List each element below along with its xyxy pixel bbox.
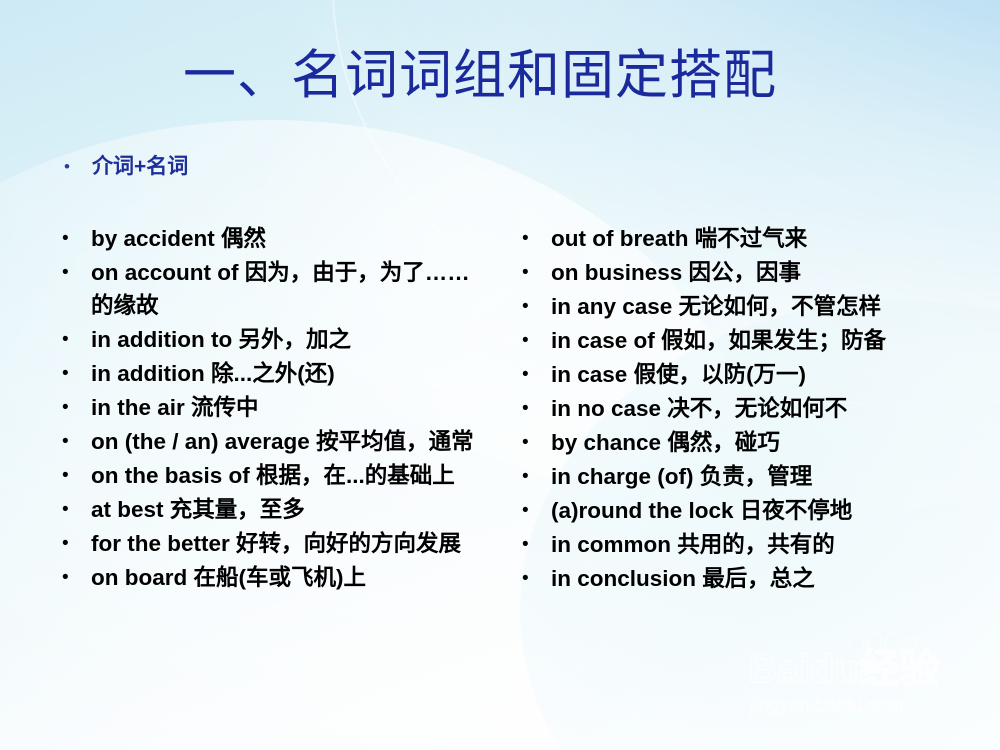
bullet-icon: • bbox=[518, 256, 551, 289]
bullet-icon: • bbox=[518, 562, 551, 595]
list-item: •(a)round the lock 日夜不停地 bbox=[518, 494, 988, 527]
phrase-english: in conclusion bbox=[551, 566, 696, 591]
list-item: •in addition 除...之外(还) bbox=[58, 357, 488, 390]
phrase-entry: for the better 好转，向好的方向发展 bbox=[91, 527, 488, 560]
phrase-english: in charge (of) bbox=[551, 464, 694, 489]
phrase-gloss: 负责，管理 bbox=[694, 464, 813, 489]
phrase-english: in common bbox=[551, 532, 671, 557]
bullet-icon: • bbox=[518, 494, 551, 527]
phrase-gloss: 假使，以防(万一) bbox=[627, 362, 806, 387]
bullet-icon: • bbox=[58, 493, 91, 526]
phrase-gloss: 除...之外(还) bbox=[205, 361, 335, 386]
phrase-gloss: 决不，无论如何不 bbox=[661, 396, 847, 421]
phrase-gloss: 偶然 bbox=[215, 226, 266, 251]
bullet-icon: • bbox=[518, 426, 551, 459]
list-item: •on the basis of 根据，在...的基础上 bbox=[58, 459, 488, 492]
bullet-icon: • bbox=[58, 391, 91, 424]
list-item: •in conclusion 最后，总之 bbox=[518, 562, 988, 595]
list-item: •on (the / an) average 按平均值，通常 bbox=[58, 425, 488, 458]
list-item: •in common 共用的，共有的 bbox=[518, 528, 988, 561]
phrase-gloss: 最后，总之 bbox=[696, 566, 815, 591]
phrase-entry: in common 共用的，共有的 bbox=[551, 528, 988, 561]
bullet-icon: • bbox=[58, 323, 91, 356]
phrase-entry: in no case 决不，无论如何不 bbox=[551, 392, 988, 425]
phrase-gloss: 流传中 bbox=[185, 395, 259, 420]
watermark-brand: Baidu经验 bbox=[748, 646, 939, 692]
phrase-entry: on board 在船(车或飞机)上 bbox=[91, 561, 488, 594]
phrase-gloss: 按平均值，通常 bbox=[310, 429, 474, 454]
phrase-english: in any case bbox=[551, 294, 672, 319]
phrase-list-right: •out of breath 喘不过气来•on business 因公，因事•i… bbox=[518, 222, 988, 596]
subtitle-row: • 介词+名词 bbox=[60, 152, 188, 182]
phrase-gloss: 根据，在...的基础上 bbox=[250, 463, 455, 488]
phrase-gloss: 因公，因事 bbox=[682, 260, 801, 285]
phrase-gloss: 日夜不停地 bbox=[734, 498, 853, 523]
phrase-english: in the air bbox=[91, 395, 185, 420]
bullet-icon: • bbox=[518, 324, 551, 357]
phrase-entry: by chance 偶然，碰巧 bbox=[551, 426, 988, 459]
list-item: •on account of 因为，由于，为了……的缘故 bbox=[58, 256, 488, 322]
phrase-entry: on the basis of 根据，在...的基础上 bbox=[91, 459, 488, 492]
list-item: •on business 因公，因事 bbox=[518, 256, 988, 289]
bullet-icon: • bbox=[58, 459, 91, 492]
bullet-icon: • bbox=[58, 561, 91, 594]
phrase-english: out of breath bbox=[551, 226, 688, 251]
bullet-icon: • bbox=[518, 528, 551, 561]
phrase-english: in no case bbox=[551, 396, 661, 421]
phrase-entry: in the air 流传中 bbox=[91, 391, 488, 424]
phrase-entry: in charge (of) 负责，管理 bbox=[551, 460, 988, 493]
bullet-icon: • bbox=[518, 290, 551, 323]
phrase-entry: in addition 除...之外(还) bbox=[91, 357, 488, 390]
phrase-gloss: 在船(车或飞机)上 bbox=[187, 565, 366, 590]
bullet-icon: • bbox=[58, 527, 91, 560]
phrase-entry: on business 因公，因事 bbox=[551, 256, 988, 289]
phrase-gloss: 偶然，碰巧 bbox=[661, 430, 780, 455]
presentation-slide: 一、名词词组和固定搭配 • 介词+名词 •by accident 偶然•on a… bbox=[0, 0, 1000, 750]
phrase-english: on account of bbox=[91, 260, 239, 285]
slide-title: 一、名词词组和固定搭配 bbox=[0, 46, 960, 106]
phrase-list-left: •by accident 偶然•on account of 因为，由于，为了……… bbox=[58, 222, 488, 595]
phrase-entry: out of breath 喘不过气来 bbox=[551, 222, 988, 255]
phrase-entry: (a)round the lock 日夜不停地 bbox=[551, 494, 988, 527]
phrase-entry: in conclusion 最后，总之 bbox=[551, 562, 988, 595]
list-item: •by accident 偶然 bbox=[58, 222, 488, 255]
bullet-icon: • bbox=[60, 152, 92, 182]
phrase-english: for the better bbox=[91, 531, 230, 556]
phrase-english: at best bbox=[91, 497, 164, 522]
bullet-icon: • bbox=[58, 256, 91, 289]
bullet-icon: • bbox=[518, 392, 551, 425]
phrase-entry: on account of 因为，由于，为了……的缘故 bbox=[91, 256, 488, 322]
phrase-gloss: 假如，如果发生；防备 bbox=[655, 328, 886, 353]
phrase-entry: in any case 无论如何，不管怎样 bbox=[551, 290, 988, 323]
list-item: •by chance 偶然，碰巧 bbox=[518, 426, 988, 459]
subtitle-label: 介词+名词 bbox=[92, 152, 188, 182]
list-item: •out of breath 喘不过气来 bbox=[518, 222, 988, 255]
phrase-english: in addition bbox=[91, 361, 205, 386]
phrase-entry: in addition to 另外，加之 bbox=[91, 323, 488, 356]
list-item: •for the better 好转，向好的方向发展 bbox=[58, 527, 488, 560]
phrase-english: on (the / an) average bbox=[91, 429, 310, 454]
list-item: •in charge (of) 负责，管理 bbox=[518, 460, 988, 493]
list-item: •in case 假使，以防(万一) bbox=[518, 358, 988, 391]
list-item: •on board 在船(车或飞机)上 bbox=[58, 561, 488, 594]
watermark-url: jingyan.baidu.com bbox=[750, 696, 903, 718]
phrase-english: by chance bbox=[551, 430, 661, 455]
list-item: •in case of 假如，如果发生；防备 bbox=[518, 324, 988, 357]
phrase-english: on business bbox=[551, 260, 682, 285]
phrase-gloss: 充其量，至多 bbox=[164, 497, 305, 522]
phrase-gloss: 好转，向好的方向发展 bbox=[230, 531, 461, 556]
list-item: •in the air 流传中 bbox=[58, 391, 488, 424]
bullet-icon: • bbox=[518, 222, 551, 255]
phrase-english: in case of bbox=[551, 328, 655, 353]
phrase-gloss: 无论如何，不管怎样 bbox=[672, 294, 881, 319]
baidu-watermark: Baidu经验 jingyan.baidu.com bbox=[748, 640, 978, 728]
phrase-gloss: 另外，加之 bbox=[232, 327, 351, 352]
phrase-english: in case bbox=[551, 362, 627, 387]
paw-print-icon bbox=[844, 634, 922, 686]
phrase-english: in addition to bbox=[91, 327, 232, 352]
list-item: •in any case 无论如何，不管怎样 bbox=[518, 290, 988, 323]
phrase-entry: on (the / an) average 按平均值，通常 bbox=[91, 425, 488, 458]
phrase-gloss: 共用的，共有的 bbox=[671, 532, 835, 557]
bullet-icon: • bbox=[58, 425, 91, 458]
phrase-english: on the basis of bbox=[91, 463, 250, 488]
bullet-icon: • bbox=[518, 460, 551, 493]
phrase-english: on board bbox=[91, 565, 187, 590]
bullet-icon: • bbox=[58, 222, 91, 255]
bullet-icon: • bbox=[518, 358, 551, 391]
list-item: •in addition to 另外，加之 bbox=[58, 323, 488, 356]
phrase-entry: by accident 偶然 bbox=[91, 222, 488, 255]
phrase-gloss: 喘不过气来 bbox=[688, 226, 807, 251]
phrase-entry: in case of 假如，如果发生；防备 bbox=[551, 324, 988, 357]
list-item: •at best 充其量，至多 bbox=[58, 493, 488, 526]
phrase-entry: at best 充其量，至多 bbox=[91, 493, 488, 526]
phrase-english: by accident bbox=[91, 226, 215, 251]
phrase-entry: in case 假使，以防(万一) bbox=[551, 358, 988, 391]
list-item: •in no case 决不，无论如何不 bbox=[518, 392, 988, 425]
bullet-icon: • bbox=[58, 357, 91, 390]
phrase-english: (a)round the lock bbox=[551, 498, 734, 523]
